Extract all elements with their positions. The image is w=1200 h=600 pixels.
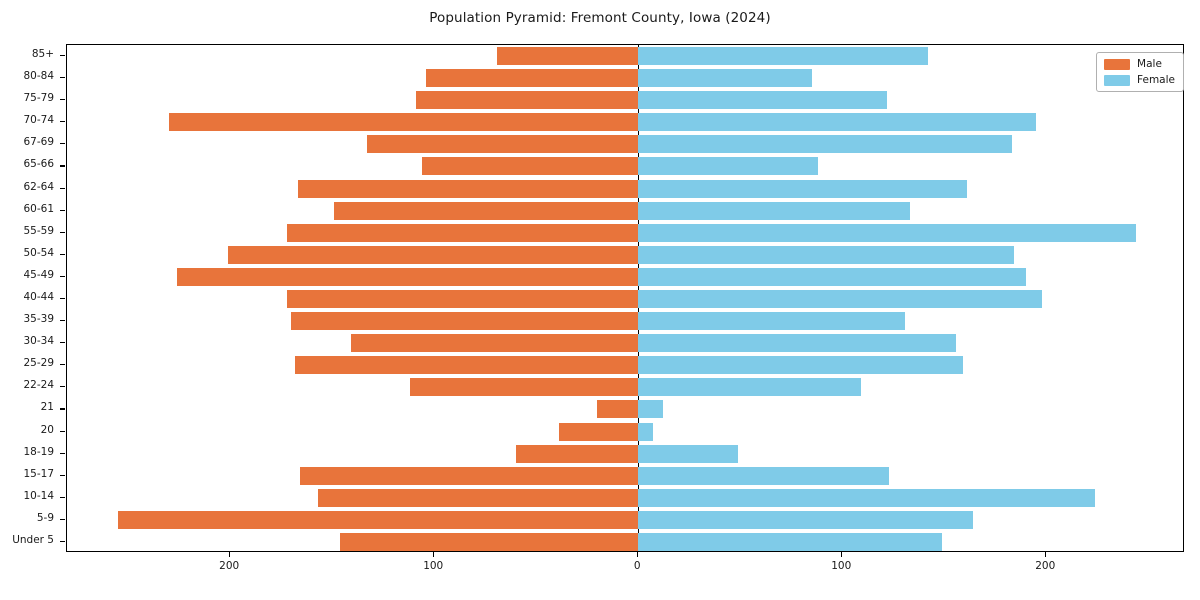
bar-male-75-79[interactable] xyxy=(416,91,638,109)
bar-row xyxy=(67,91,1183,109)
legend-label-female: Female xyxy=(1137,74,1175,86)
bar-row xyxy=(67,378,1183,396)
y-tick-label: 10-14 xyxy=(0,490,60,502)
bar-row xyxy=(67,312,1183,330)
y-tick-mark xyxy=(60,431,65,432)
x-tick-label: 0 xyxy=(634,560,641,572)
bar-row xyxy=(67,202,1183,220)
y-tick-label: 22-24 xyxy=(0,379,60,391)
plot-inner xyxy=(67,45,1183,551)
x-tick-mark xyxy=(841,552,842,557)
y-tick-mark xyxy=(60,298,65,299)
x-tick-label: 100 xyxy=(423,560,443,572)
bar-row xyxy=(67,511,1183,529)
y-tick-label: 62-64 xyxy=(0,181,60,193)
legend-label-male: Male xyxy=(1137,58,1162,70)
bar-female-85-[interactable] xyxy=(638,47,928,65)
bar-female-75-79[interactable] xyxy=(638,91,887,109)
y-tick-mark xyxy=(60,210,65,211)
bar-female-25-29[interactable] xyxy=(638,356,962,374)
y-tick-label: 15-17 xyxy=(0,468,60,480)
y-tick-mark xyxy=(60,121,65,122)
bar-male-70-74[interactable] xyxy=(169,113,638,131)
bar-male-60-61[interactable] xyxy=(334,202,638,220)
bar-row xyxy=(67,113,1183,131)
y-tick-mark xyxy=(60,254,65,255)
y-tick-label: Under 5 xyxy=(0,534,60,546)
bar-female-under-5[interactable] xyxy=(638,533,942,551)
x-tick-label: 200 xyxy=(219,560,239,572)
population-pyramid-figure: Population Pyramid: Fremont County, Iowa… xyxy=(0,0,1200,600)
bar-row xyxy=(67,135,1183,153)
y-tick-label: 70-74 xyxy=(0,114,60,126)
y-tick-label: 50-54 xyxy=(0,247,60,259)
x-tick-label: 200 xyxy=(1035,560,1055,572)
bar-female-10-14[interactable] xyxy=(638,489,1095,507)
bar-row xyxy=(67,246,1183,264)
y-tick-label: 45-49 xyxy=(0,269,60,281)
bar-male-67-69[interactable] xyxy=(367,135,638,153)
bar-male-45-49[interactable] xyxy=(177,268,638,286)
bar-male-25-29[interactable] xyxy=(295,356,638,374)
bar-male-21[interactable] xyxy=(597,400,638,418)
bar-row xyxy=(67,423,1183,441)
x-tick-mark xyxy=(637,552,638,557)
bar-female-80-84[interactable] xyxy=(638,69,811,87)
y-tick-mark xyxy=(60,188,65,189)
bar-female-70-74[interactable] xyxy=(638,113,1036,131)
bar-female-62-64[interactable] xyxy=(638,180,966,198)
bar-row xyxy=(67,356,1183,374)
bar-female-20[interactable] xyxy=(638,423,652,441)
y-tick-label: 80-84 xyxy=(0,70,60,82)
y-tick-mark xyxy=(60,497,65,498)
x-axis-ticks xyxy=(66,552,1184,558)
bar-female-40-44[interactable] xyxy=(638,290,1042,308)
bar-female-50-54[interactable] xyxy=(638,246,1013,264)
bar-male-5-9[interactable] xyxy=(118,511,638,529)
bar-row xyxy=(67,533,1183,551)
chart-legend[interactable]: MaleFemale xyxy=(1096,52,1184,92)
bar-male-22-24[interactable] xyxy=(410,378,638,396)
y-tick-mark xyxy=(60,77,65,78)
y-tick-mark xyxy=(60,320,65,321)
x-tick-label: 100 xyxy=(831,560,851,572)
y-axis-labels: Under 55-910-1415-1718-19202122-2425-293… xyxy=(0,44,60,552)
bar-row xyxy=(67,400,1183,418)
x-tick-mark xyxy=(229,552,230,557)
bar-male-15-17[interactable] xyxy=(300,467,639,485)
bar-female-5-9[interactable] xyxy=(638,511,973,529)
bar-row xyxy=(67,47,1183,65)
legend-entry-female[interactable]: Female xyxy=(1104,74,1175,86)
x-axis-labels: 2001000100200 xyxy=(66,560,1184,580)
bar-male-20[interactable] xyxy=(559,423,639,441)
y-tick-label: 55-59 xyxy=(0,225,60,237)
y-tick-mark xyxy=(60,276,65,277)
plot-area xyxy=(66,44,1184,552)
bar-male-62-64[interactable] xyxy=(298,180,639,198)
y-tick-label: 60-61 xyxy=(0,203,60,215)
y-tick-mark xyxy=(60,519,65,520)
y-tick-label: 40-44 xyxy=(0,291,60,303)
bar-male-18-19[interactable] xyxy=(516,445,638,463)
y-tick-label: 75-79 xyxy=(0,92,60,104)
y-tick-mark xyxy=(60,408,65,409)
y-tick-mark xyxy=(60,232,65,233)
bar-male-under-5[interactable] xyxy=(340,533,638,551)
bar-male-65-66[interactable] xyxy=(422,157,638,175)
y-tick-label: 85+ xyxy=(0,48,60,60)
bar-male-30-34[interactable] xyxy=(351,334,639,352)
bar-female-18-19[interactable] xyxy=(638,445,738,463)
bar-row xyxy=(67,290,1183,308)
bar-female-55-59[interactable] xyxy=(638,224,1136,242)
y-tick-label: 21 xyxy=(0,401,60,413)
bar-row xyxy=(67,334,1183,352)
x-tick-mark xyxy=(1045,552,1046,557)
bar-row xyxy=(67,445,1183,463)
bar-female-35-39[interactable] xyxy=(638,312,905,330)
y-tick-mark xyxy=(60,165,65,166)
y-tick-mark xyxy=(60,55,65,56)
bar-female-22-24[interactable] xyxy=(638,378,860,396)
y-tick-label: 5-9 xyxy=(0,512,60,524)
bar-male-55-59[interactable] xyxy=(287,224,638,242)
bar-row xyxy=(67,180,1183,198)
bar-row xyxy=(67,157,1183,175)
y-tick-label: 18-19 xyxy=(0,446,60,458)
y-tick-mark xyxy=(60,541,65,542)
bar-row xyxy=(67,268,1183,286)
y-tick-mark xyxy=(60,475,65,476)
bar-row xyxy=(67,467,1183,485)
bar-female-21[interactable] xyxy=(638,400,662,418)
bar-male-35-39[interactable] xyxy=(291,312,638,330)
bar-row xyxy=(67,489,1183,507)
y-tick-label: 67-69 xyxy=(0,136,60,148)
bar-row xyxy=(67,69,1183,87)
legend-swatch-female xyxy=(1104,75,1130,86)
legend-swatch-male xyxy=(1104,59,1130,70)
y-tick-label: 35-39 xyxy=(0,313,60,325)
y-tick-label: 30-34 xyxy=(0,335,60,347)
y-tick-mark xyxy=(60,386,65,387)
bar-female-65-66[interactable] xyxy=(638,157,818,175)
bar-male-40-44[interactable] xyxy=(287,290,638,308)
y-tick-mark xyxy=(60,143,65,144)
bar-female-60-61[interactable] xyxy=(638,202,909,220)
y-tick-label: 65-66 xyxy=(0,158,60,170)
bar-female-67-69[interactable] xyxy=(638,135,1011,153)
chart-title: Population Pyramid: Fremont County, Iowa… xyxy=(0,10,1200,26)
bar-row xyxy=(67,224,1183,242)
y-tick-mark xyxy=(60,99,65,100)
x-tick-mark xyxy=(433,552,434,557)
bar-female-45-49[interactable] xyxy=(638,268,1026,286)
legend-entry-male[interactable]: Male xyxy=(1104,58,1175,70)
bar-female-30-34[interactable] xyxy=(638,334,956,352)
bar-male-10-14[interactable] xyxy=(318,489,638,507)
y-tick-mark xyxy=(60,342,65,343)
bar-male-50-54[interactable] xyxy=(228,246,638,264)
y-tick-label: 25-29 xyxy=(0,357,60,369)
y-tick-label: 20 xyxy=(0,424,60,436)
bar-male-85-[interactable] xyxy=(497,47,638,65)
y-tick-mark xyxy=(60,453,65,454)
y-tick-mark xyxy=(60,364,65,365)
bar-female-15-17[interactable] xyxy=(638,467,889,485)
bar-male-80-84[interactable] xyxy=(426,69,638,87)
